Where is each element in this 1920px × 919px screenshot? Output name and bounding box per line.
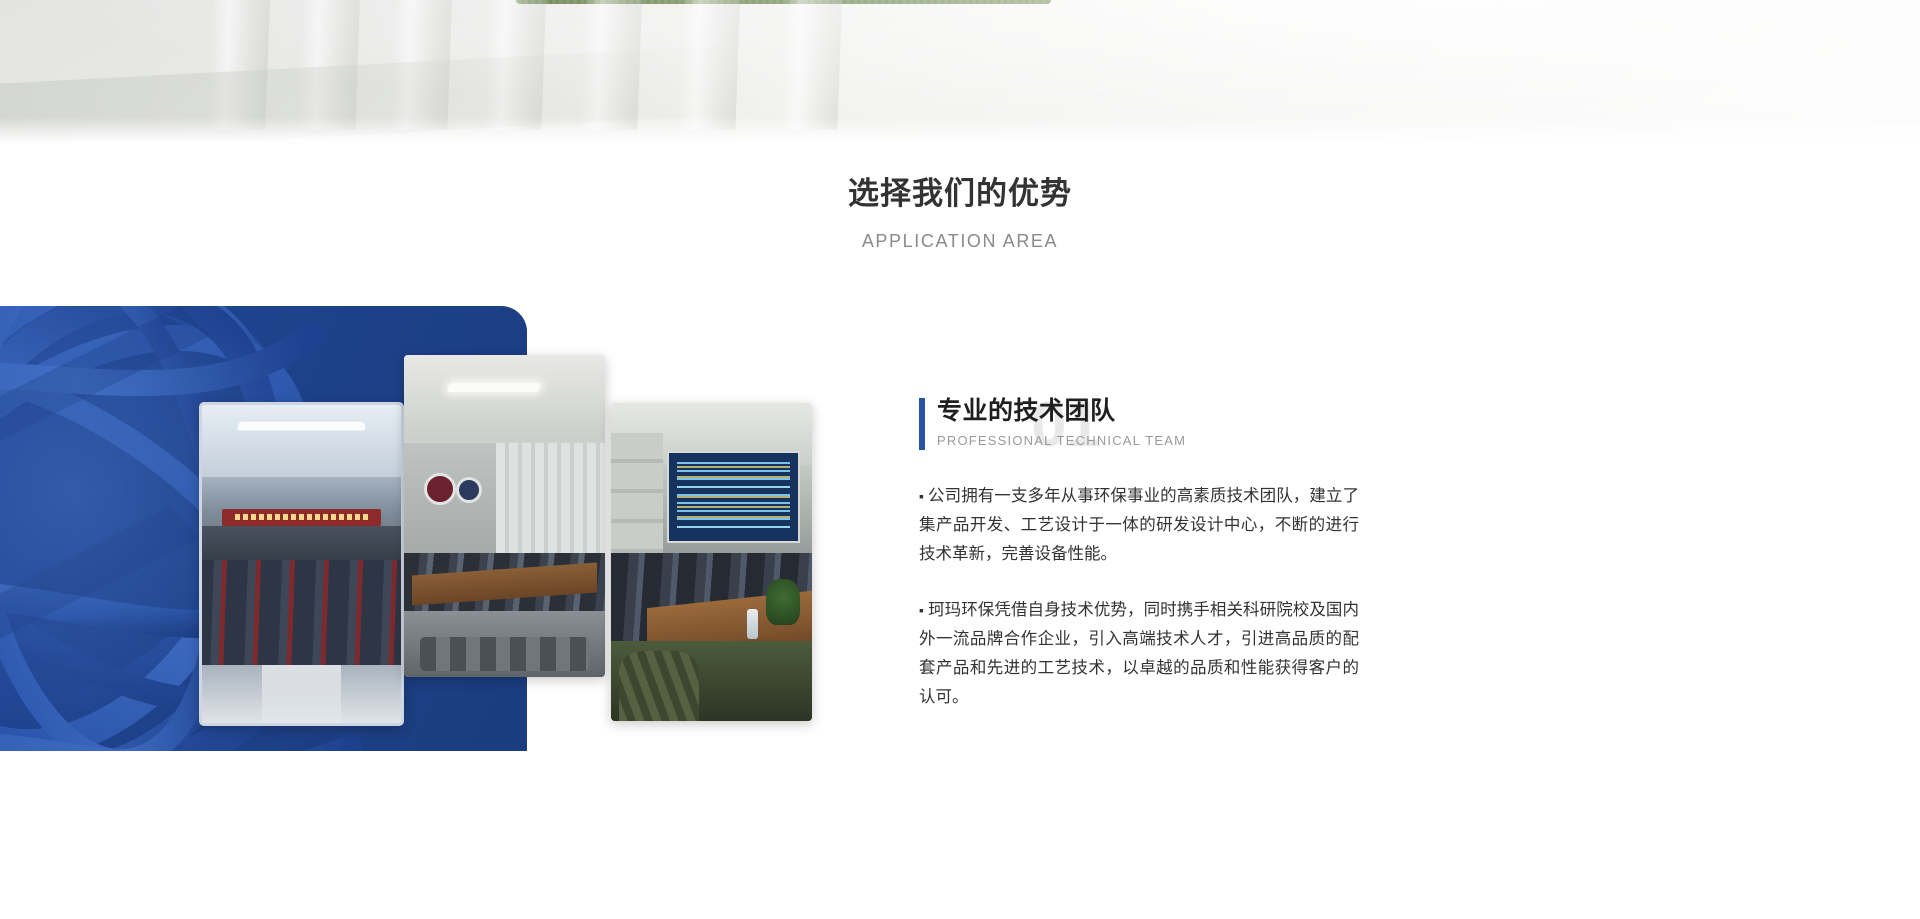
photo-2-chairs <box>404 611 605 677</box>
photo-2-window-curtain <box>496 443 605 563</box>
photo-2-ceiling <box>404 355 605 441</box>
feature-paragraph-1-text: 公司拥有一支多年从事环保事业的高素质技术团队，建立了集产品开发、工艺设计于一体的… <box>919 487 1359 563</box>
feature-paragraph-2-text: 珂玛环保凭借自身技术优势，同时携手相关科研院校及国内外一流品牌合作企业，引入高端… <box>919 601 1359 706</box>
photo-1-floor <box>202 665 401 723</box>
photo-3-water-bottle <box>747 609 758 639</box>
banner-bottom-fade <box>0 117 1920 143</box>
page-subtitle: APPLICATION AREA <box>0 214 1920 252</box>
photo-1-ceiling <box>202 405 401 477</box>
photo-3-plant <box>766 579 800 625</box>
feature-heading-group: 01 专业的技术团队 PROFESSIONAL TECHNICAL TEAM <box>919 396 1359 458</box>
photo-1-audience-seats <box>202 560 401 668</box>
bullet-icon: ▪ <box>919 488 928 504</box>
photo-2-ceiling-lamp <box>447 383 542 392</box>
feature-paragraph-1: ▪公司拥有一支多年从事环保事业的高素质技术团队，建立了集产品开发、工艺设计于一体… <box>919 482 1359 569</box>
bullet-icon: ▪ <box>919 602 928 618</box>
feature-title: 专业的技术团队 <box>919 396 1359 427</box>
photo-3-projection-screen <box>667 451 800 543</box>
photo-lecture-hall[interactable] <box>199 402 404 726</box>
photo-1-red-banner <box>222 509 381 526</box>
page-root: 选择我们的优势 APPLICATION AREA <box>0 0 1920 919</box>
photo-3-foreground-person <box>611 641 812 721</box>
photo-2-wall <box>404 443 496 563</box>
hero-banner-strip <box>0 0 1920 143</box>
feature-body: ▪公司拥有一支多年从事环保事业的高素质技术团队，建立了集产品开发、工艺设计于一体… <box>919 458 1359 712</box>
section-header: 选择我们的优势 APPLICATION AREA <box>0 143 1920 252</box>
photo-meeting-room[interactable] <box>404 355 605 677</box>
feature-block-01: 01 专业的技术团队 PROFESSIONAL TECHNICAL TEAM ▪… <box>919 396 1359 712</box>
page-title: 选择我们的优势 <box>0 143 1920 214</box>
photo-1-stage <box>202 526 401 564</box>
feature-subtitle-en: PROFESSIONAL TECHNICAL TEAM <box>919 427 1359 448</box>
photo-projector-meeting[interactable] <box>611 403 812 721</box>
feature-paragraph-2: ▪珂玛环保凭借自身技术优势，同时携手相关科研院校及国内外一流品牌合作企业，引入高… <box>919 596 1359 712</box>
photo-2-wall-emblem-1 <box>424 473 456 505</box>
